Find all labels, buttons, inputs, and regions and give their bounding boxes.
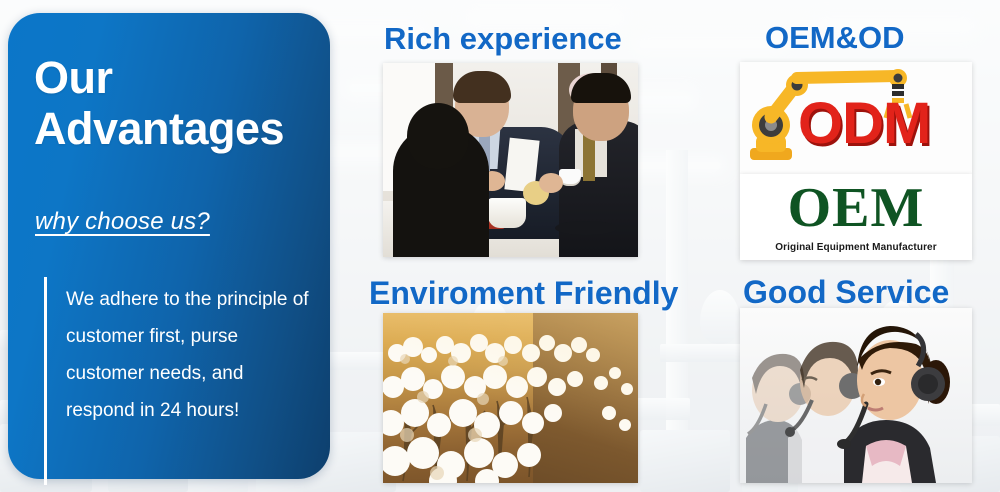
oem-caption: Original Equipment Manufacturer <box>740 242 972 253</box>
photo-odm-logo: ODM <box>740 62 972 174</box>
photo-oem-logo: OEM Original Equipment Manufacturer <box>740 174 972 260</box>
card-subtitle: why choose us? <box>35 208 210 236</box>
advantages-card: Our Advantages why choose us? We adhere … <box>8 13 330 479</box>
promo-banner: Our Advantages why choose us? We adhere … <box>0 0 1000 492</box>
meeting-folder <box>555 221 617 235</box>
oem-wordmark: OEM <box>740 176 972 240</box>
meeting-hand <box>539 173 563 193</box>
call-centre-agents <box>740 308 972 483</box>
card-title-line2: Advantages <box>34 104 314 155</box>
card-vertical-rule <box>44 277 47 485</box>
title-good-service: Good Service <box>743 274 949 311</box>
cotton-sunlight <box>383 313 638 483</box>
meeting-bowl <box>488 198 526 228</box>
meeting-person-left-head <box>407 103 469 169</box>
odm-wordmark: ODM <box>798 90 930 157</box>
photo-rich-experience <box>383 63 638 257</box>
card-title-line1: Our <box>34 53 314 104</box>
card-title: Our Advantages <box>34 53 314 155</box>
photo-customer-service <box>740 308 972 483</box>
card-body-text: We adhere to the principle of customer f… <box>66 281 316 429</box>
photo-cotton-field <box>383 313 638 483</box>
title-enviroment-friendly: Enviroment Friendly <box>369 275 678 312</box>
title-rich-experience: Rich experience <box>384 21 622 57</box>
meeting-person-right-hair <box>571 73 631 103</box>
title-oem-odm: OEM&OD <box>765 20 905 56</box>
